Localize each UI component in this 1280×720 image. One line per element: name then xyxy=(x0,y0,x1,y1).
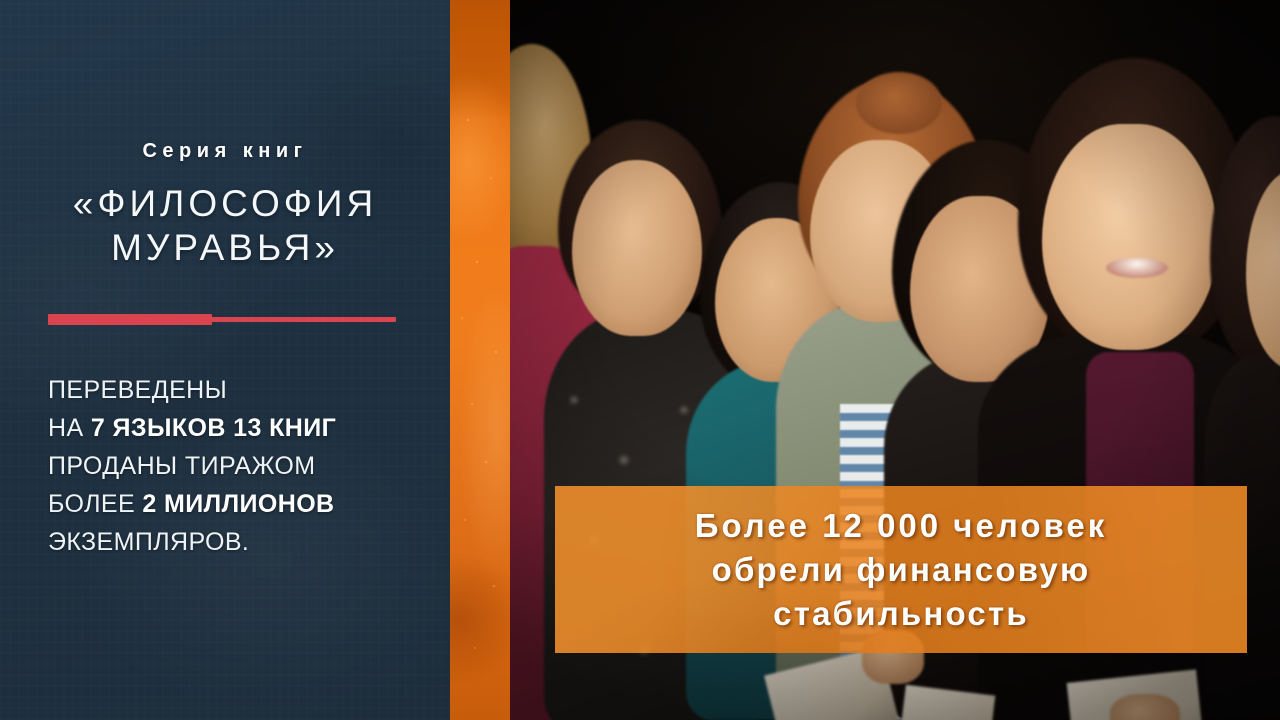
red-divider xyxy=(48,313,396,325)
caption-line-2: обрели финансовую xyxy=(712,548,1091,592)
book-title-line-2: МУРАВЬЯ» xyxy=(0,226,450,270)
caption-line-3: стабильность xyxy=(773,592,1029,636)
translation-stats-blurb: ПЕРЕВЕДЕНЫ НА 7 ЯЗЫКОВ 13 КНИГ ПРОДАНЫ Т… xyxy=(48,371,438,561)
blurb-text: БОЛЕЕ xyxy=(48,490,142,518)
band-sparkle-texture xyxy=(450,0,510,720)
blurb-line-5: ЭКЗЕМПЛЯРОВ. xyxy=(48,523,438,561)
slide-canvas: Серия книг «ФИЛОСОФИЯ МУРАВЬЯ» ПЕРЕВЕДЕН… xyxy=(0,0,1280,720)
person-5-smile xyxy=(1106,258,1168,278)
blurb-emphasis: 7 ЯЗЫКОВ 13 КНИГ xyxy=(91,414,336,442)
orange-vertical-band xyxy=(450,0,510,720)
book-series-title: «ФИЛОСОФИЯ МУРАВЬЯ» xyxy=(0,182,450,270)
caption-line-1: Более 12 000 человек xyxy=(695,504,1107,548)
blurb-line-3: ПРОДАНЫ ТИРАЖОМ xyxy=(48,447,438,485)
person-1-face xyxy=(572,160,702,336)
blurb-line-4: БОЛЕЕ 2 МИЛЛИОНОВ xyxy=(48,485,438,523)
series-eyebrow-label: Серия книг xyxy=(0,140,450,163)
person-5-face xyxy=(1042,124,1218,350)
blurb-text: НА xyxy=(48,414,91,442)
blurb-emphasis: 2 МИЛЛИОНОВ xyxy=(142,490,334,518)
caption-banner-text: Более 12 000 человек обрели финансовую с… xyxy=(555,486,1247,653)
blurb-text: ПРОДАНЫ ТИРАЖОМ xyxy=(48,452,315,480)
caption-banner: Более 12 000 человек обрели финансовую с… xyxy=(555,486,1247,653)
foreground-hand-2 xyxy=(1110,694,1180,720)
divider-thick-segment xyxy=(48,314,212,325)
blurb-line-1: ПЕРЕВЕДЕНЫ xyxy=(48,371,438,409)
blurb-line-2: НА 7 ЯЗЫКОВ 13 КНИГ xyxy=(48,409,438,447)
blurb-text: ЭКЗЕМПЛЯРОВ. xyxy=(48,528,249,556)
person-3-hair-bun xyxy=(856,72,942,134)
left-info-panel: Серия книг «ФИЛОСОФИЯ МУРАВЬЯ» ПЕРЕВЕДЕН… xyxy=(0,0,450,720)
divider-thin-segment xyxy=(208,317,396,322)
panel-texture xyxy=(0,0,450,720)
blurb-text: ПЕРЕВЕДЕНЫ xyxy=(48,376,227,404)
book-title-line-1: «ФИЛОСОФИЯ xyxy=(0,182,450,226)
